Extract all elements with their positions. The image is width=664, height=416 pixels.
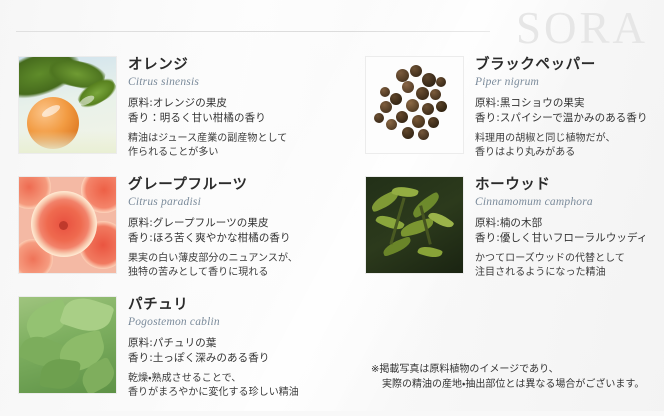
ingredient-material: 原料:黒コショウの果実 <box>475 96 648 111</box>
patchouli-photo <box>18 296 117 394</box>
ingredient-card-patchouli: パチュリ Pogostemon cablin 原料:パチュリの葉 香り:土っぽく… <box>0 296 332 400</box>
ingredient-note-line1: 精油はジュース産業の副産物として <box>128 132 287 146</box>
ingredient-name: パチュリ <box>128 297 299 314</box>
ingredient-card-grapefruit: グレープフルーツ Citrus paradisi 原料:グレープフルーツの果皮 … <box>0 176 332 280</box>
ingredient-note-line2: 香りはより丸みがある <box>475 146 648 160</box>
ingredient-name: ブラックペッパー <box>475 57 648 74</box>
ho-wood-photo <box>365 176 464 274</box>
ingredient-latin-name: Pogostemon cablin <box>128 315 299 329</box>
ingredient-note-line1: かつてローズウッドの代替として <box>475 252 648 266</box>
ingredient-material: 原料:オレンジの果皮 <box>128 96 287 111</box>
ingredient-aroma: 香り:土っぽく深みのある香り <box>128 351 299 366</box>
orange-text: オレンジ Citrus sinensis 原料:オレンジの果皮 香り：明るく甘い… <box>117 56 287 160</box>
ingredient-card-orange: オレンジ Citrus sinensis 原料:オレンジの果皮 香り：明るく甘い… <box>0 56 332 160</box>
disclaimer: ※掲載写真は原料植物のイメージであり、 実際の精油の産地・抽出部位とは異なる場合… <box>371 362 661 392</box>
black-pepper-photo <box>365 56 464 154</box>
ingredient-note-line2: 作られることが多い <box>128 146 287 160</box>
ingredient-note-line1: 料理用の胡椒と同じ植物だが、 <box>475 132 648 146</box>
ingredient-note-line1: 乾燥・熟成させることで、 <box>128 372 299 386</box>
ho-wood-text: ホーウッド Cinnamomum camphora 原料:楠の木部 香り:優しく… <box>464 176 648 280</box>
ingredient-aroma: 香り:ほろ苦く爽やかな柑橘の香り <box>128 231 298 246</box>
ingredient-note-line2: 注目されるようになった精油 <box>475 266 648 280</box>
left-column: オレンジ Citrus sinensis 原料:オレンジの果皮 香り：明るく甘い… <box>0 56 332 416</box>
brand-wordmark: SORA <box>516 2 648 54</box>
ingredient-aroma: 香り:優しく甘いフローラルウッディ <box>475 231 648 246</box>
ingredient-aroma: 香り:スパイシーで温かみのある香り <box>475 111 648 126</box>
ingredient-note-line1: 果実の白い薄皮部分のニュアンスが、 <box>128 252 298 266</box>
header-divider <box>16 31 490 32</box>
ingredient-latin-name: Piper nigrum <box>475 75 648 89</box>
orange-photo <box>18 56 117 154</box>
ingredient-note-line2: 独特の苦みとして香りに現れる <box>128 266 298 280</box>
grapefruit-text: グレープフルーツ Citrus paradisi 原料:グレープフルーツの果皮 … <box>117 176 298 280</box>
ingredient-card-ho-wood: ホーウッド Cinnamomum camphora 原料:楠の木部 香り:優しく… <box>342 176 664 280</box>
ingredient-material: 原料:楠の木部 <box>475 216 648 231</box>
black-pepper-text: ブラックペッパー Piper nigrum 原料:黒コショウの果実 香り:スパイ… <box>464 56 648 160</box>
ingredient-material: 原料:パチュリの葉 <box>128 336 299 351</box>
ingredient-card-black-pepper: ブラックペッパー Piper nigrum 原料:黒コショウの果実 香り:スパイ… <box>342 56 664 160</box>
ingredient-name: グレープフルーツ <box>128 177 298 194</box>
ingredient-name: ホーウッド <box>475 177 648 194</box>
ingredient-latin-name: Cinnamomum camphora <box>475 195 648 209</box>
ingredient-latin-name: Citrus sinensis <box>128 75 287 89</box>
ingredient-name: オレンジ <box>128 57 287 74</box>
ingredient-latin-name: Citrus paradisi <box>128 195 298 209</box>
grapefruit-photo <box>18 176 117 274</box>
ingredient-material: 原料:グレープフルーツの果皮 <box>128 216 298 231</box>
disclaimer-line2: 実際の精油の産地・抽出部位とは異なる場合がございます。 <box>371 377 661 392</box>
patchouli-text: パチュリ Pogostemon cablin 原料:パチュリの葉 香り:土っぽく… <box>117 296 299 400</box>
ingredient-note-line2: 香りがまろやかに変化する珍しい精油 <box>128 386 299 400</box>
disclaimer-line1: ※掲載写真は原料植物のイメージであり、 <box>371 362 661 377</box>
ingredient-aroma: 香り：明るく甘い柑橘の香り <box>128 111 287 126</box>
